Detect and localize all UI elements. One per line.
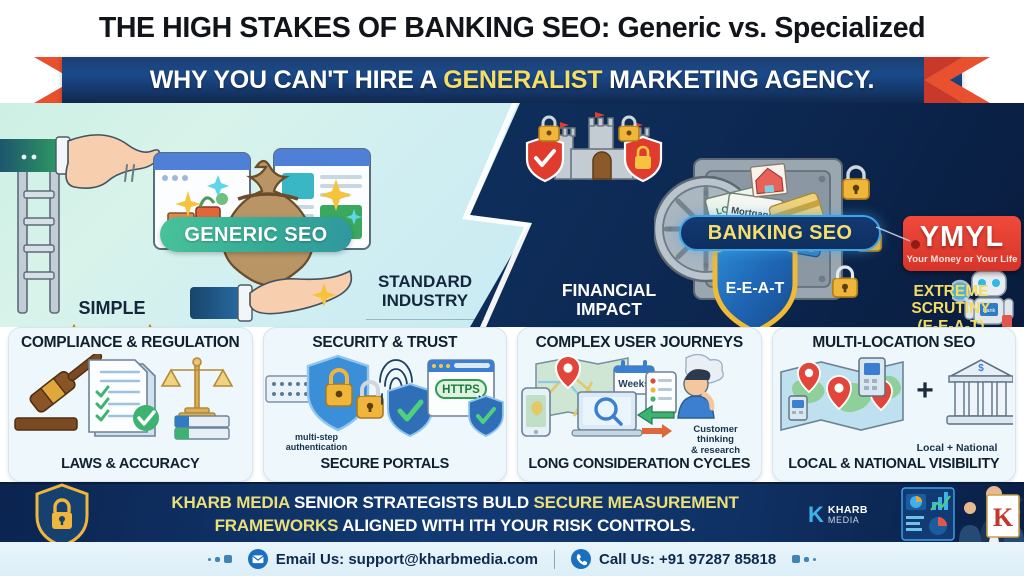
comparison-section: GENERAL GOODS GENERIC SEO SIMPLE STANDAR… — [0, 103, 1024, 327]
atm-icon — [859, 358, 885, 396]
local-national-note: Local + National — [907, 443, 1007, 455]
card-security-trust[interactable]: SECURITY & TRUST — [263, 327, 508, 482]
scrutiny-line3: (E-E-A-T) — [885, 318, 1017, 327]
ribbon-text-before: WHY YOU CAN'T HIRE A — [150, 66, 443, 94]
infographic-poster: THE HIGH STAKES OF BANKING SEO: Generic … — [0, 0, 1024, 576]
banking-seo-badge: BANKING SEO — [679, 215, 881, 251]
contact-bar: Email Us: support@kharbmedia.com Call Us… — [0, 542, 1024, 576]
https-badge-text: HTTPS — [442, 384, 480, 396]
email-label: Email Us: support@kharbmedia.com — [276, 551, 538, 568]
phone-contact[interactable]: Call Us: +91 97287 85818 — [571, 549, 776, 569]
card-title: SECURITY & TRUST — [312, 335, 457, 351]
page-title-part1: THE HIGH STAKES OF BANKING SEO: — [99, 12, 610, 44]
compliance-illustration — [9, 354, 249, 440]
padlock-icon — [616, 115, 642, 143]
arrow-right-icon — [642, 424, 672, 438]
thinking-person-icon — [678, 354, 723, 418]
scrutiny-column: EXTREME SCRUTINY (E-E-A-T) INTENSE GOOGL… — [885, 283, 1017, 327]
svg-text:$: $ — [978, 363, 984, 374]
contact-divider — [554, 550, 555, 569]
ribbon-band: WHY YOU CAN'T HIRE A GENERALIST MARKETIN… — [62, 57, 962, 103]
card-multi-location-seo[interactable]: MULTI-LOCATION SEO — [772, 327, 1017, 482]
shield-lock-icon — [308, 356, 368, 430]
ymyl-subtitle: Your Money or Your Life — [906, 254, 1017, 265]
ribbon-text: WHY YOU CAN'T HIRE A GENERALIST MARKETIN… — [150, 68, 874, 93]
banking-point-1: FINANCIAL IMPACT — [533, 281, 685, 319]
phone-label: Call Us: +91 97287 85818 — [599, 551, 776, 568]
shield-check-icon — [469, 396, 503, 436]
ymyl-title: YMYL — [920, 223, 1005, 252]
footer-message: KHARB MEDIA SENIOR STRATEGISTS BULD SECU… — [110, 492, 800, 538]
banking-point-1-line1: FINANCIAL — [533, 281, 685, 300]
shield-check-icon — [388, 384, 432, 436]
footer-line1-highlight: SECURE MEASUREMENT — [533, 493, 738, 512]
scales-of-justice-icon — [162, 358, 232, 418]
scrutiny-line2: SCRUTINY — [885, 300, 1017, 317]
page-title-part2: Generic vs. Specialized — [610, 12, 925, 44]
ribbon-text-after: MARKETING AGENCY. — [602, 66, 874, 94]
card-footer: LAWS & ACCURACY — [9, 456, 252, 472]
card-footer: SECURE PORTALS — [264, 456, 507, 472]
hand-holding-icon — [190, 263, 355, 325]
shield-lock-icon — [30, 482, 94, 546]
generic-point-1-line1: STANDARD — [352, 273, 498, 292]
footer-line2-highlight: FRAMEWORKS — [215, 516, 339, 535]
scrutiny-line1: EXTREME — [885, 283, 1017, 300]
footer-line-2: FRAMEWORKS ALIGNED WITH ITH YOUR RISK CO… — [110, 515, 800, 538]
logo-sub: MEDIA — [828, 516, 868, 525]
kharb-k-emblem-icon: K — [986, 494, 1020, 538]
email-contact[interactable]: Email Us: support@kharbmedia.com — [248, 549, 538, 569]
bank-building-icon: $ — [947, 360, 1013, 424]
card-complex-user-journeys[interactable]: COMPLEX USER JOURNEYS — [517, 327, 762, 482]
footer-line1-mid: SENIOR STRATEGISTS BULD — [289, 493, 533, 512]
note-line2: authentication — [274, 443, 360, 453]
card-title: COMPLIANCE & REGULATION — [21, 335, 239, 351]
atm-icon — [789, 396, 807, 420]
card-footer: LONG CONSIDERATION CYCLES — [518, 456, 761, 472]
subtitle-ribbon: WHY YOU CAN'T HIRE A GENERALIST MARKETIN… — [0, 57, 1024, 103]
kharb-media-logo: K KHARB MEDIA — [808, 504, 894, 534]
smartphone-icon — [522, 388, 550, 436]
banking-point-1-line2: IMPACT — [533, 300, 685, 319]
footer-banner: KHARB MEDIA SENIOR STRATEGISTS BULD SECU… — [0, 482, 1024, 542]
note-line2: thinking — [681, 435, 751, 445]
padlock-icon — [536, 115, 562, 143]
multi-location-illustration: + $ — [773, 354, 1013, 440]
laptop-search-icon — [572, 392, 642, 436]
page-title: THE HIGH STAKES OF BANKING SEO: Generic … — [99, 14, 925, 43]
padlock-icon — [830, 265, 860, 299]
generic-points-list: STANDARD INDUSTRY NORMAL SCRUTINY LOW ST… — [352, 273, 498, 327]
generic-point-1-line2: INDUSTRY — [352, 292, 498, 311]
plus-sign: + — [916, 374, 934, 407]
security-illustration: HTTPS — [264, 354, 504, 440]
label-simple: SIMPLE — [52, 299, 172, 318]
phone-icon — [571, 549, 591, 569]
customer-thinking-note: Customer thinking & research — [681, 425, 751, 456]
feature-cards-row: COMPLIANCE & REGULATION — [0, 327, 1024, 482]
card-compliance-regulation[interactable]: COMPLIANCE & REGULATION — [8, 327, 253, 482]
card-footer: LOCAL & NATIONAL VISIBILITY — [773, 456, 1016, 472]
footer-line-1: KHARB MEDIA SENIOR STRATEGISTS BULD SECU… — [110, 492, 800, 515]
note-line3: & research — [681, 446, 751, 456]
card-title: COMPLEX USER JOURNEYS — [536, 335, 743, 351]
envelope-icon — [248, 549, 268, 569]
eeat-shield-label: E-E-A-T — [726, 280, 785, 297]
generic-seo-badge: GENERIC SEO — [160, 217, 352, 252]
ribbon-highlight: GENERALIST — [443, 66, 602, 94]
ymyl-tag: YMYL Your Money or Your Life — [903, 216, 1021, 271]
decorative-dots-left — [208, 555, 232, 563]
footer-brand: KHARB MEDIA — [171, 493, 289, 512]
banking-points-list: FINANCIAL IMPACT EXTREME SCRUTINY HIGH S… — [533, 281, 685, 327]
generic-point-1: STANDARD INDUSTRY — [352, 273, 498, 310]
checklist-document-icon — [89, 360, 159, 436]
logo-mark: K — [808, 504, 824, 526]
ribbon-right-arrow-icon — [924, 57, 990, 103]
footer-line2-rest: ALIGNED WITH ITH YOUR RISK CONTROLS. — [338, 516, 695, 535]
connector-line-icon — [876, 221, 916, 255]
svg-text:K: K — [993, 503, 1014, 532]
card-title: MULTI-LOCATION SEO — [812, 335, 975, 351]
law-books-icon — [175, 416, 229, 439]
divider — [366, 319, 484, 320]
multi-step-auth-note: multi-step authentication — [274, 433, 360, 453]
decorative-dots-right — [792, 555, 816, 563]
analytics-dashboard-icon — [900, 486, 956, 542]
padlock-icon — [357, 382, 383, 418]
padlock-icon — [840, 165, 872, 201]
header: THE HIGH STAKES OF BANKING SEO: Generic … — [0, 0, 1024, 56]
password-dots-icon — [266, 376, 310, 402]
